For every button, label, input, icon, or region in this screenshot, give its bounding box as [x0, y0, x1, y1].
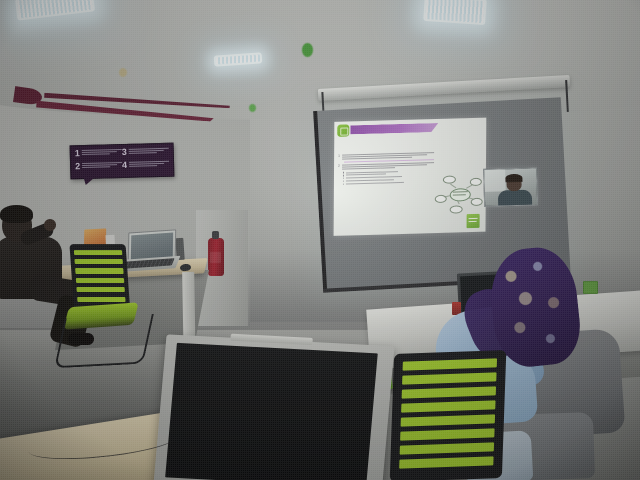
- fire-extinguisher: [208, 238, 224, 276]
- poster-text-3: [129, 147, 169, 154]
- participant-video-thumbnail: [483, 167, 538, 206]
- beige-smudge: [119, 68, 127, 77]
- mindmap-center-node: [450, 188, 471, 202]
- chair-left-frame: [54, 314, 154, 369]
- mindmap-connector: [450, 184, 456, 188]
- shared-slide: 1 2: [334, 118, 487, 236]
- ceiling-light-right: [423, 0, 487, 25]
- webcam-person-hair: [505, 174, 522, 182]
- mindmap-node: [443, 175, 456, 183]
- poster-number-4: 4: [122, 161, 127, 170]
- poster-item-3: 3: [122, 147, 169, 161]
- slide-header-banner: [350, 123, 438, 134]
- mindmap-node: [470, 178, 482, 186]
- poster-number-1: 1: [75, 149, 80, 158]
- poster-text-1: [82, 148, 122, 155]
- mindmap-node: [435, 195, 447, 203]
- poster-text-2: [82, 161, 122, 168]
- slide-green-icon: [337, 124, 349, 136]
- person-left-hair: [0, 205, 33, 223]
- mindmap-node: [471, 198, 483, 206]
- poster-text-4: [129, 160, 169, 167]
- green-dot-large: [302, 43, 313, 57]
- poster-item-2: 2: [75, 161, 122, 175]
- slide-footer-logo: [467, 214, 480, 228]
- mindmap-node: [450, 205, 463, 213]
- slide-sub-bullet-list: [343, 169, 434, 184]
- person-left-hand: [44, 219, 56, 231]
- chair-front-backrest: [390, 350, 507, 480]
- room-photo-scene: 1 3 2 4: [0, 0, 640, 480]
- foreground-monitor: [154, 334, 395, 480]
- poster-item-4: 4: [122, 160, 169, 174]
- slide-bullet-1-number: 1: [338, 155, 340, 160]
- slide-bullet-2-number: 2: [338, 165, 340, 170]
- green-dot-small: [249, 104, 256, 112]
- webcam-person-body: [498, 190, 532, 207]
- poster-number-3: 3: [122, 148, 127, 157]
- slide-body: 1 2: [338, 152, 434, 185]
- numbered-steps-poster: 1 3 2 4: [70, 143, 175, 180]
- webcam-wall: [484, 169, 505, 191]
- poster-item-1: 1: [75, 148, 122, 162]
- slide-mindmap-diagram: [435, 174, 483, 215]
- poster-number-2: 2: [75, 162, 80, 171]
